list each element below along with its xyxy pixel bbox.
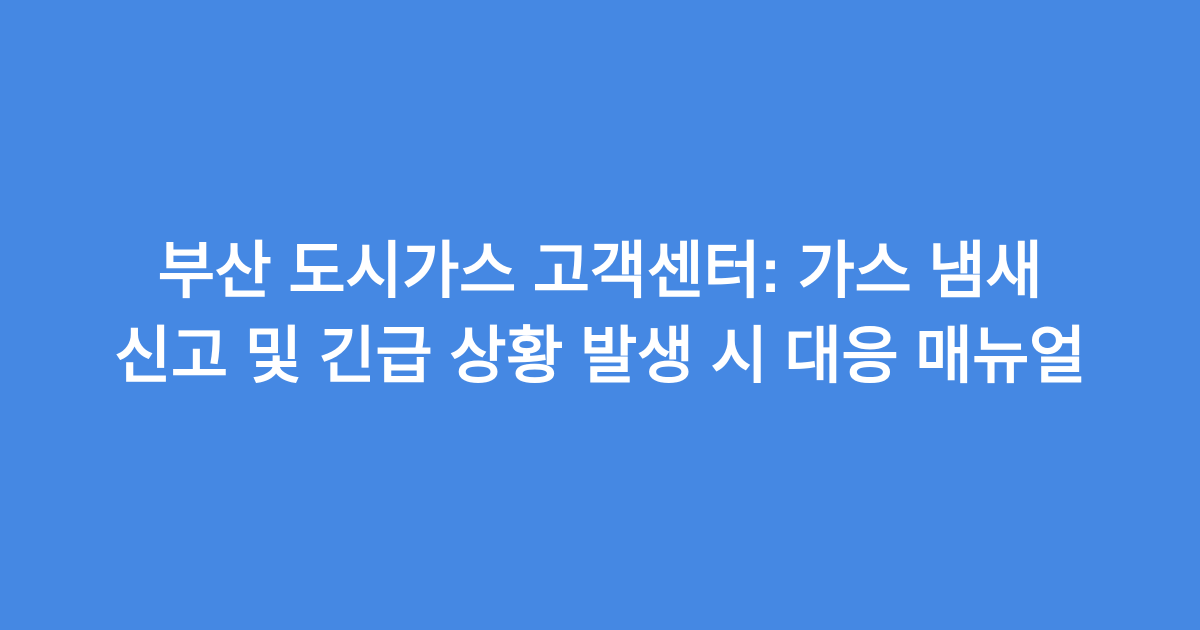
title-block: 부산 도시가스 고객센터: 가스 냄새 신고 및 긴급 상황 발생 시 대응 매… [50, 230, 1150, 400]
page-title: 부산 도시가스 고객센터: 가스 냄새 신고 및 긴급 상황 발생 시 대응 매… [70, 230, 1130, 400]
og-card: 부산 도시가스 고객센터: 가스 냄새 신고 및 긴급 상황 발생 시 대응 매… [0, 0, 1200, 630]
